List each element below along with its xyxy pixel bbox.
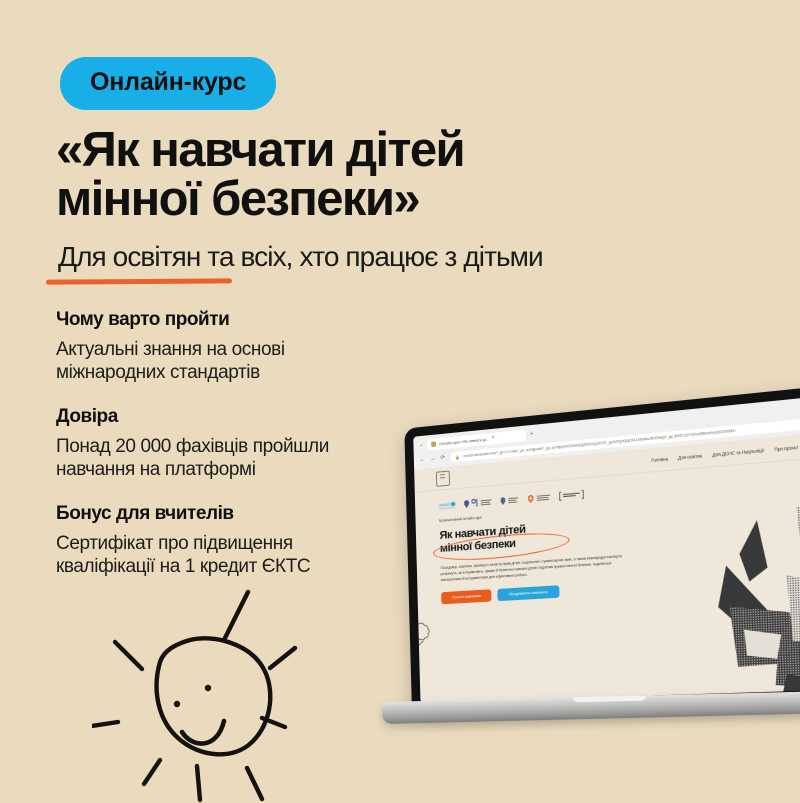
tab-list-chevron-icon[interactable]: ⌄ [419, 443, 423, 448]
continue-learning-button[interactable]: Продовжити навчання [498, 585, 559, 601]
partner-logo-unicef: unicef [439, 500, 456, 510]
feature-body: Сертифікат про підвищення кваліфікації н… [56, 532, 406, 579]
laptop-screen: ⌄ Онлайн-курс «Як навчати ді... × + − ← … [413, 393, 800, 702]
favicon-icon [431, 442, 436, 447]
nav-link-home[interactable]: Головна [651, 456, 668, 463]
website-content: Головна Для освітян Для ДСНС та Нацполіц… [414, 430, 800, 703]
reload-icon[interactable]: ⟳ [440, 455, 445, 461]
partner-logo-ministry [500, 495, 519, 506]
nav-link-educators[interactable]: Для освітян [678, 453, 702, 460]
feature-title: Бонус для вчителів [56, 504, 406, 525]
svg-text:unicef: unicef [439, 502, 451, 508]
start-learning-button[interactable]: Почати навчання [441, 589, 492, 604]
nav-link-dsns[interactable]: Для ДСНС та Нацполіції [712, 447, 764, 457]
nav-link-about[interactable]: Про проєкт [774, 444, 798, 452]
feature-list: Чому варто пройти Актуальні знання на ос… [56, 310, 406, 601]
feature-body: Актуальні знання на основі міжнародних с… [56, 338, 406, 385]
orange-underline-accent [46, 278, 232, 284]
logo-caption-lines [508, 497, 518, 503]
laptop-lid: ⌄ Онлайн-курс «Як навчати ді... × + − ← … [404, 382, 800, 713]
partner-logo-dsns [526, 493, 550, 504]
course-type-badge: Онлайн-курс [60, 57, 276, 110]
feature-item: Бонус для вчителів Сертифікат про підвищ… [56, 504, 406, 579]
spacer [459, 461, 641, 477]
feature-title: Чому варто пройти [56, 310, 406, 331]
partner-logo-bracket [559, 490, 585, 501]
feature-body: Понад 20 000 фахівців пройшли навчання н… [56, 435, 406, 482]
feature-title: Довіра [56, 407, 406, 428]
hand-drawn-tree-icon [413, 620, 433, 655]
plus-icon[interactable]: + [530, 432, 533, 437]
hand-drawn-sun-icon [92, 578, 392, 803]
feature-item: Довіра Понад 20 000 фахівців пройшли нав… [56, 407, 406, 482]
page-subtitle: Для освітян та всіх, хто працює з дітьми [58, 243, 543, 271]
feature-item: Чому варто пройти Актуальні знання на ос… [56, 310, 406, 385]
halftone-collage-illustration [706, 493, 800, 703]
logo-caption-lines [537, 495, 551, 501]
close-icon[interactable]: × [492, 436, 495, 441]
page-title: «Як навчати дітей мінної безпеки» [56, 126, 676, 223]
tab-title: Онлайн-курс «Як навчати ді... [439, 437, 489, 446]
site-logo-icon[interactable] [436, 470, 450, 486]
logo-caption-lines [481, 499, 492, 505]
poster-canvas: Онлайн-курс «Як навчати дітей мінної без… [0, 0, 800, 800]
back-arrow-icon[interactable]: ← [420, 457, 426, 464]
lock-icon: 🔒 [455, 454, 460, 460]
partner-logo-eu [463, 497, 491, 508]
forward-arrow-icon[interactable]: → [430, 456, 436, 463]
laptop-mockup: ⌄ Онлайн-курс «Як навчати ді... × + − ← … [368, 418, 800, 738]
